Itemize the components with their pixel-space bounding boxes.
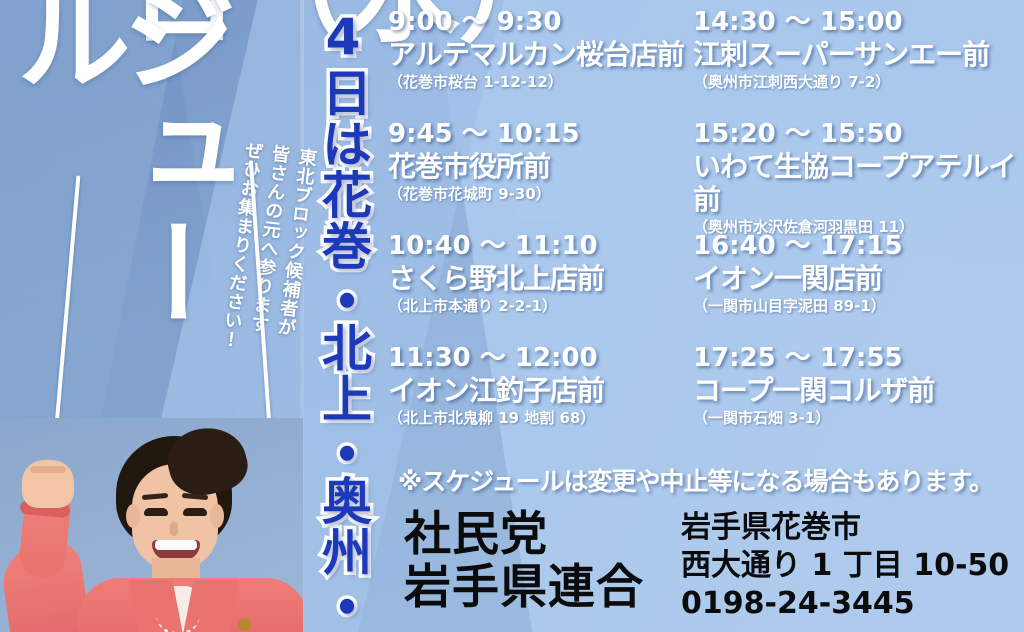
schedule-entry-time: 10:40 〜 11:10	[388, 232, 693, 261]
schedule-entry-place: いわて生協コープアテルイ前	[693, 150, 1024, 216]
schedule-entry-place: 江刺スーパーサンエー前	[693, 38, 1024, 71]
contact-phone-number: 0198-24-3445	[681, 585, 1009, 623]
schedule-entry: 15:20 〜 15:50 いわて生協コープアテルイ前 （奥州市水沢佐倉河羽黒田…	[693, 116, 1024, 228]
schedule-entry-time: 15:20 〜 15:50	[693, 120, 1024, 149]
schedule-entry: 14:30 〜 15:00 江刺スーパーサンエー前 （奥州市江刺西大通り 7-2…	[693, 4, 1024, 116]
party-name-block: 社民党 岩手県連合	[404, 509, 644, 614]
schedule-entry-place: イオン江釣子店前	[388, 374, 693, 407]
vertical-route-title: 4日は花巻・北上・奥州・一関	[317, 8, 369, 618]
schedule-entry-time: 9:45 〜 10:15	[388, 120, 693, 149]
schedule-change-notice: ※スケジュールは変更や中止等になる場合もあります。	[398, 462, 993, 498]
schedule-entry-time: 17:25 〜 17:55	[693, 344, 1024, 373]
photo-necklace	[156, 610, 200, 632]
schedule-entry: 16:40 〜 17:15 イオン一関店前 （一関市山目字泥田 89-1）	[693, 228, 1024, 340]
photo-nose	[170, 522, 178, 536]
photo-fist-knuckles	[30, 466, 66, 473]
photo-eye-right	[183, 508, 207, 516]
candidate-photo	[0, 418, 303, 632]
photo-ear-right	[210, 504, 224, 528]
contact-address-line-2: 西大通り 1 丁目 10-50	[681, 547, 1009, 585]
contact-address-line-1: 岩手県花巻市	[681, 509, 1009, 547]
photo-mouth	[152, 540, 200, 560]
schedule-entry-address: （花巻市桜台 1-12-12）	[388, 73, 693, 91]
party-name-line-1: 社民党	[404, 509, 644, 562]
schedule-grid: 9:00 〜 9:30 アルテマルカン桜台店前 （花巻市桜台 1-12-12） …	[388, 4, 1024, 454]
photo-teeth	[155, 540, 197, 550]
schedule-entry-time: 16:40 〜 17:15	[693, 232, 1024, 261]
schedule-entry-time: 9:00 〜 9:30	[388, 8, 693, 37]
schedule-entry-place: イオン一関店前	[693, 262, 1024, 295]
schedule-entry: 9:00 〜 9:30 アルテマルカン桜台店前 （花巻市桜台 1-12-12）	[388, 4, 693, 116]
schedule-entry-place: アルテマルカン桜台店前	[388, 38, 693, 71]
party-name-line-2: 岩手県連合	[404, 562, 644, 615]
schedule-entry: 9:45 〜 10:15 花巻市役所前 （花巻市花城町 9-30）	[388, 116, 693, 228]
photo-eye-left	[144, 508, 168, 516]
schedule-entry-place: 花巻市役所前	[388, 150, 693, 183]
poster-canvas: 日（水） ジュール 東北ブロック候補者が 皆さんの元へ参ります ぜひお集まりくだ…	[0, 0, 1024, 632]
schedule-entry-address: （北上市本通り 2-2-1）	[388, 297, 693, 315]
photo-ear-left	[126, 504, 140, 528]
schedule-entry-address: （北上市北鬼柳 19 地割 68）	[388, 409, 693, 427]
schedule-entry-place: コープ一関コルザ前	[693, 374, 1024, 407]
schedule-entry-place: さくら野北上店前	[388, 262, 693, 295]
schedule-entry-address: （花巻市花城町 9-30）	[388, 185, 693, 203]
schedule-entry-address: （奥州市江刺西大通り 7-2）	[693, 73, 1024, 91]
schedule-entry-time: 14:30 〜 15:00	[693, 8, 1024, 37]
schedule-entry-time: 11:30 〜 12:00	[388, 344, 693, 373]
photo-lapel-pin	[238, 618, 251, 631]
schedule-entry: 11:30 〜 12:00 イオン江釣子店前 （北上市北鬼柳 19 地割 68）	[388, 340, 693, 452]
contact-info-block: 岩手県花巻市 西大通り 1 丁目 10-50 0198-24-3445	[681, 509, 1009, 622]
schedule-entry: 10:40 〜 11:10 さくら野北上店前 （北上市本通り 2-2-1）	[388, 228, 693, 340]
schedule-entry: 17:25 〜 17:55 コープ一関コルザ前 （一関市石畑 3-1）	[693, 340, 1024, 452]
schedule-entry-address: （一関市石畑 3-1）	[693, 409, 1024, 427]
schedule-entry-address: （一関市山目字泥田 89-1）	[693, 297, 1024, 315]
